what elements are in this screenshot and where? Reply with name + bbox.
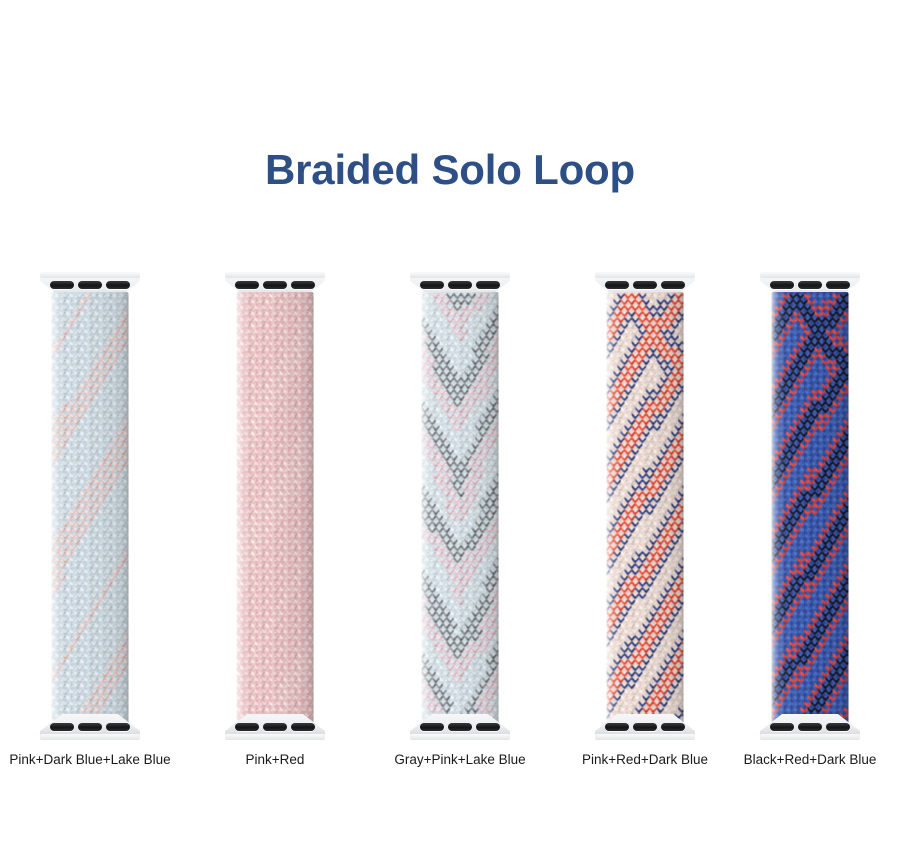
- product-label-5: Black+Red+Dark Blue: [720, 752, 900, 767]
- lug-slot-icon: [106, 281, 130, 289]
- lug-slot-icon: [770, 723, 794, 731]
- lug-slot-icon: [633, 281, 657, 289]
- lug-bar: [40, 734, 140, 740]
- braided-strap: [422, 292, 499, 732]
- product-item-3[interactable]: Gray+Pink+Lake Blue: [370, 272, 550, 772]
- lug-slot-icon: [661, 281, 685, 289]
- weave-pattern: [772, 292, 849, 732]
- lug-slot-icon: [235, 281, 259, 289]
- lug-slot-icon: [770, 281, 794, 289]
- braided-strap: [607, 292, 684, 732]
- lug-slot-icon: [798, 723, 822, 731]
- watch-lug-bottom: [225, 714, 325, 740]
- braided-strap: [237, 292, 314, 732]
- lug-bar: [40, 272, 140, 278]
- lug-slot-icon: [448, 281, 472, 289]
- lug-slot-icon: [826, 281, 850, 289]
- product-label-2: Pink+Red: [185, 752, 365, 767]
- lug-bar: [760, 272, 860, 278]
- lug-slot-icon: [420, 723, 444, 731]
- lug-slot-icon: [291, 281, 315, 289]
- page-title: Braided Solo Loop: [0, 146, 900, 194]
- watch-lug-bottom: [410, 714, 510, 740]
- lug-slot-icon: [605, 723, 629, 731]
- weave-pattern: [607, 292, 684, 732]
- lug-slot-icon: [420, 281, 444, 289]
- lug-slot-icon: [633, 723, 657, 731]
- lug-bar: [760, 734, 860, 740]
- lug-slot-icon: [78, 723, 102, 731]
- weave-pattern: [52, 292, 129, 732]
- product-item-5[interactable]: Black+Red+Dark Blue: [720, 272, 900, 772]
- lug-bar: [410, 272, 510, 278]
- lug-slot-icon: [50, 723, 74, 731]
- watch-lug-bottom: [595, 714, 695, 740]
- lug-slot-icon: [826, 723, 850, 731]
- lug-bar: [595, 734, 695, 740]
- lug-bar: [410, 734, 510, 740]
- lug-slot-icon: [476, 723, 500, 731]
- lug-slot-icon: [263, 281, 287, 289]
- lug-slot-icon: [605, 281, 629, 289]
- lug-slot-icon: [476, 281, 500, 289]
- product-item-2[interactable]: Pink+Red: [185, 272, 365, 772]
- product-item-1[interactable]: Pink+Dark Blue+Lake Blue: [0, 272, 180, 772]
- lug-slot-icon: [291, 723, 315, 731]
- weave-pattern: [422, 292, 499, 732]
- product-label-3: Gray+Pink+Lake Blue: [370, 752, 550, 767]
- lug-bar: [225, 272, 325, 278]
- product-item-4[interactable]: Pink+Red+Dark Blue: [555, 272, 735, 772]
- watch-lug-bottom: [40, 714, 140, 740]
- lug-slot-icon: [263, 723, 287, 731]
- lug-slot-icon: [661, 723, 685, 731]
- lug-slot-icon: [798, 281, 822, 289]
- lug-bar: [225, 734, 325, 740]
- watch-lug-bottom: [760, 714, 860, 740]
- lug-slot-icon: [50, 281, 74, 289]
- product-label-4: Pink+Red+Dark Blue: [555, 752, 735, 767]
- product-label-1: Pink+Dark Blue+Lake Blue: [0, 752, 180, 767]
- lug-slot-icon: [235, 723, 259, 731]
- product-band-row: Pink+Dark Blue+Lake Blue Pink+Red: [0, 272, 900, 772]
- lug-slot-icon: [106, 723, 130, 731]
- lug-slot-icon: [448, 723, 472, 731]
- lug-slot-icon: [78, 281, 102, 289]
- weave-pattern: [237, 292, 314, 732]
- braided-strap: [772, 292, 849, 732]
- lug-bar: [595, 272, 695, 278]
- braided-strap: [52, 292, 129, 732]
